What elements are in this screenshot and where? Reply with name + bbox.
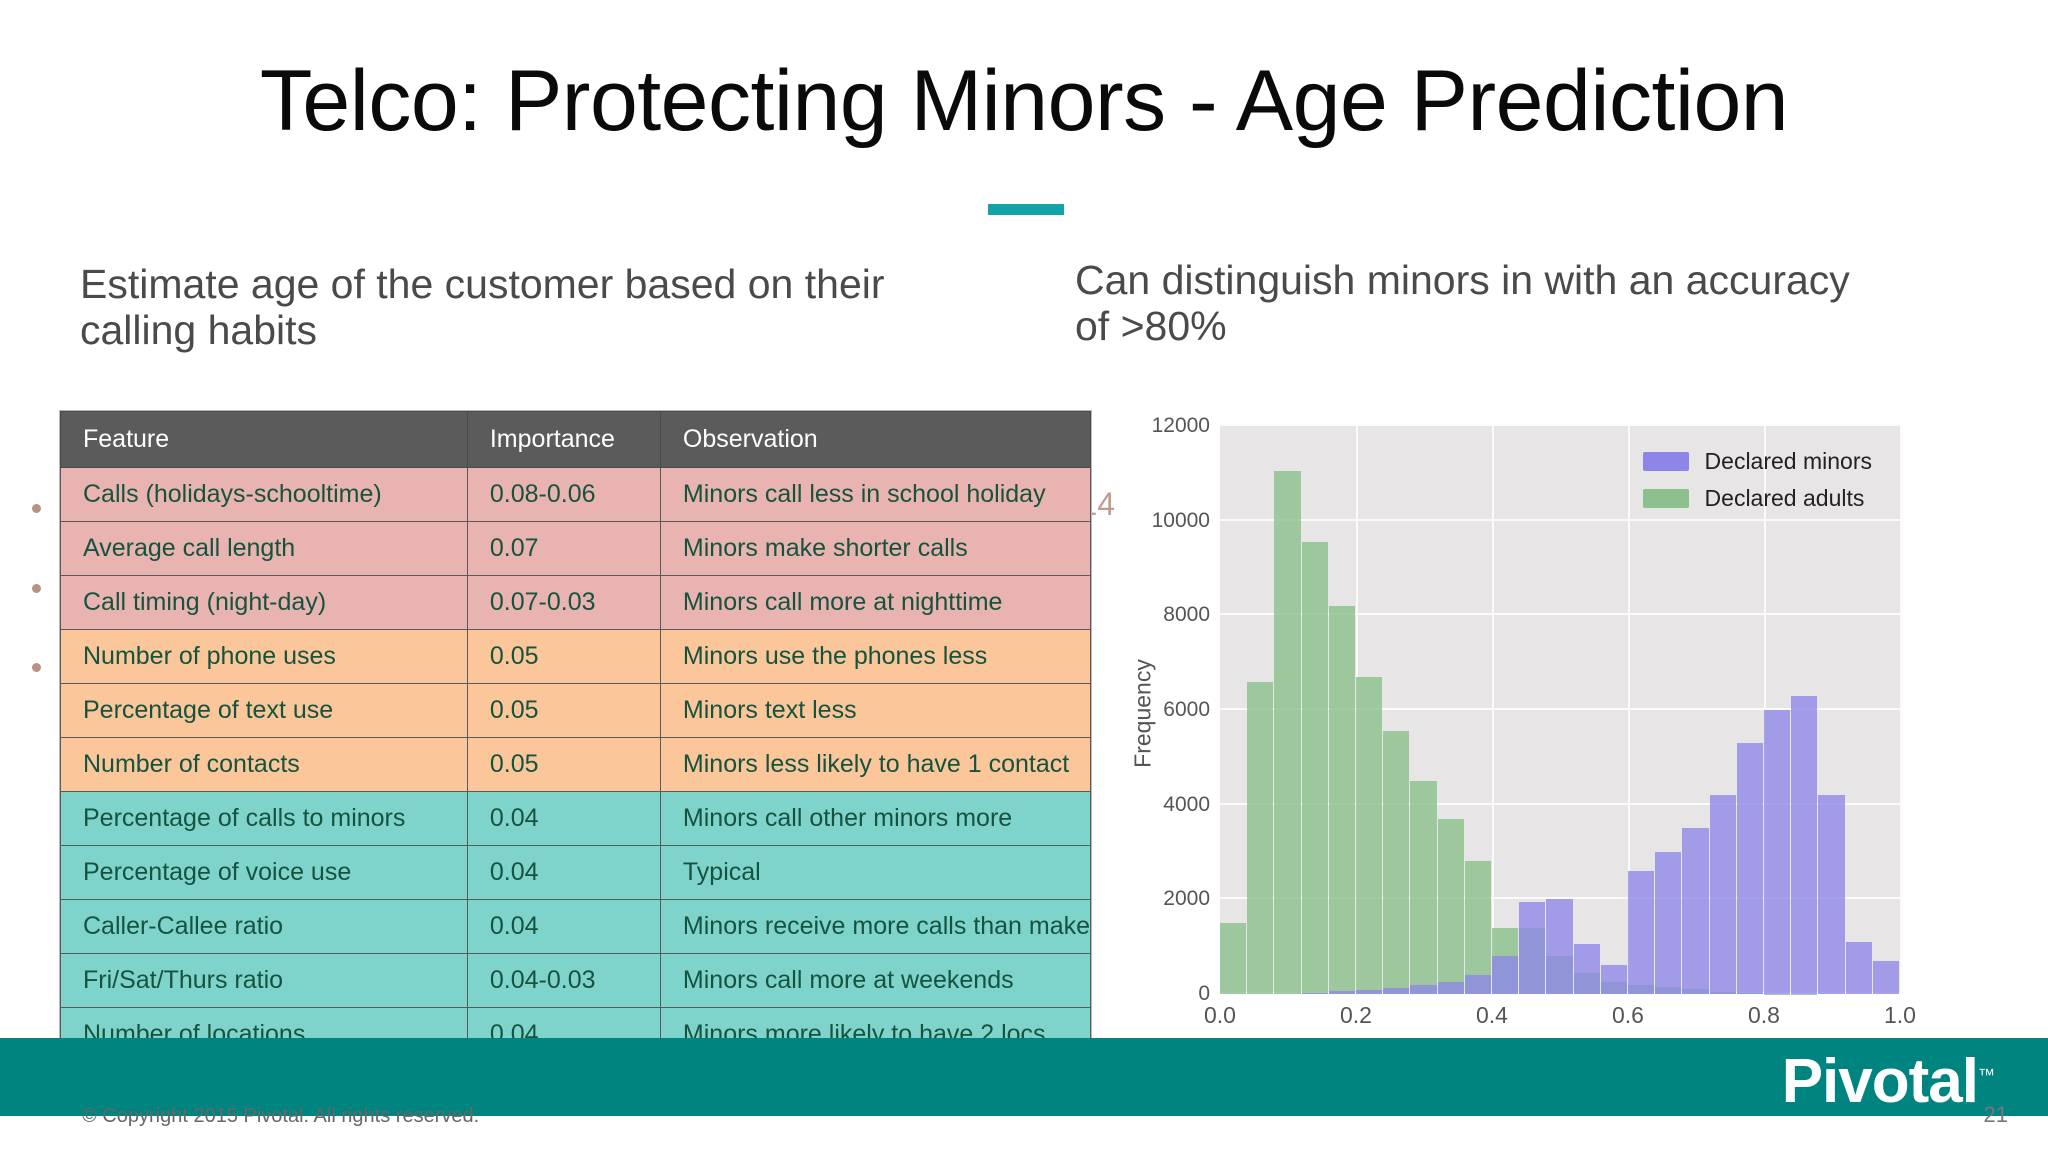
y-tick-label: 12000: [1115, 414, 1210, 438]
histogram-bar: [1791, 696, 1817, 994]
legend-item-adults: Declared adults: [1643, 485, 1872, 512]
chart-legend: Declared minors Declared adults: [1633, 440, 1886, 530]
histogram-bar: [1846, 942, 1872, 994]
lead-text-right: Can distinguish minors in with an accura…: [1075, 258, 1875, 350]
table-cell-feature: Percentage of text use: [61, 684, 468, 738]
table-cell-importance: 0.05: [467, 630, 660, 684]
score-histogram-chart: Frequency Declared minors Declared adult…: [1115, 400, 1935, 1020]
x-tick-label: 0.4: [1447, 1002, 1537, 1029]
histogram-bar: [1302, 993, 1328, 994]
table-cell-importance: 0.05: [467, 684, 660, 738]
page-title: Telco: Protecting Minors - Age Predictio…: [0, 58, 2048, 144]
table-cell-observation: Minors receive more calls than make: [660, 900, 1090, 954]
y-tick-label: 4000: [1115, 793, 1210, 817]
histogram-bar: [1410, 985, 1436, 994]
column-header-feature: Feature: [61, 412, 468, 468]
histogram-bar: [1438, 819, 1464, 994]
gridline: [1492, 426, 1494, 994]
histogram-bar: [1574, 944, 1600, 994]
table-cell-importance: 0.07: [467, 522, 660, 576]
histogram-bar: [1220, 923, 1246, 994]
histogram-bar: [1873, 961, 1899, 994]
table-cell-feature: Fri/Sat/Thurs ratio: [61, 954, 468, 1008]
histogram-bar: [1546, 899, 1572, 994]
table-row: Number of phone uses0.05Minors use the p…: [61, 630, 1091, 684]
table-cell-feature: Caller-Callee ratio: [61, 900, 468, 954]
table-row: Fri/Sat/Thurs ratio0.04-0.03Minors call …: [61, 954, 1091, 1008]
lead-text-left: Estimate age of the customer based on th…: [80, 262, 960, 354]
histogram-bar: [1628, 871, 1654, 994]
histogram-bar: [1383, 988, 1409, 994]
table-cell-observation: Minors use the phones less: [660, 630, 1090, 684]
brand-name: Pivotal: [1782, 1047, 1978, 1116]
title-accent-bar: [988, 204, 1064, 215]
gridline: [1900, 426, 1902, 994]
table-cell-observation: Typical: [660, 846, 1090, 900]
histogram-bar: [1383, 731, 1409, 994]
table-cell-feature: Calls (holidays-schooltime): [61, 468, 468, 522]
table-cell-importance: 0.04: [467, 792, 660, 846]
table-row: Caller-Callee ratio0.04Minors receive mo…: [61, 900, 1091, 954]
table-cell-importance: 0.04-0.03: [467, 954, 660, 1008]
table-row: Number of contacts0.05Minors less likely…: [61, 738, 1091, 792]
table-cell-importance: 0.08-0.06: [467, 468, 660, 522]
legend-label-minors: Declared minors: [1705, 448, 1872, 475]
table-cell-feature: Number of contacts: [61, 738, 468, 792]
table-cell-observation: Minors call more at nighttime: [660, 576, 1090, 630]
page-number: 21: [1984, 1102, 2008, 1128]
copyright-text: © Copyright 2015 Pivotal. All rights res…: [82, 1105, 479, 1128]
histogram-bar: [1247, 682, 1273, 994]
table-cell-importance: 0.07-0.03: [467, 576, 660, 630]
histogram-bar: [1655, 852, 1681, 994]
histogram-bar: [1710, 795, 1736, 994]
histogram-bar: [1356, 677, 1382, 994]
histogram-bar: [1519, 902, 1545, 994]
table-cell-observation: Minors make shorter calls: [660, 522, 1090, 576]
histogram-bar: [1274, 471, 1300, 994]
table-row: Average call length0.07Minors make short…: [61, 522, 1091, 576]
table-row: Calls (holidays-schooltime)0.08-0.06Mino…: [61, 468, 1091, 522]
table-body: Calls (holidays-schooltime)0.08-0.06Mino…: [61, 468, 1091, 1062]
x-tick-label: 0.6: [1583, 1002, 1673, 1029]
table-cell-observation: Minors call other minors more: [660, 792, 1090, 846]
table-row: Percentage of text use0.05Minors text le…: [61, 684, 1091, 738]
table-cell-observation: Minors less likely to have 1 contact: [660, 738, 1090, 792]
gridline: [1220, 424, 1900, 426]
histogram-bar: [1329, 991, 1355, 994]
table-row: Percentage of calls to minors0.04Minors …: [61, 792, 1091, 846]
y-tick-label: 6000: [1115, 698, 1210, 722]
histogram-bar: [1492, 956, 1518, 994]
column-header-importance: Importance: [467, 412, 660, 468]
feature-importance-table: Feature Importance Observation Calls (ho…: [60, 411, 1091, 1062]
histogram-bar: [1329, 606, 1355, 994]
table-cell-importance: 0.05: [467, 738, 660, 792]
table-cell-importance: 0.04: [467, 900, 660, 954]
table-row: Percentage of voice use0.04Typical: [61, 846, 1091, 900]
table-cell-observation: Minors call more at weekends: [660, 954, 1090, 1008]
histogram-bar: [1601, 965, 1627, 994]
histogram-bar: [1356, 990, 1382, 994]
x-tick-label: 1.0: [1855, 1002, 1945, 1029]
histogram-bar: [1682, 828, 1708, 994]
legend-item-minors: Declared minors: [1643, 448, 1872, 475]
table-header: Feature Importance Observation: [61, 412, 1091, 468]
column-header-observation: Observation: [660, 412, 1090, 468]
histogram-bar: [1410, 781, 1436, 994]
y-tick-label: 8000: [1115, 603, 1210, 627]
histogram-bar: [1465, 975, 1491, 994]
histogram-bar: [1818, 795, 1844, 994]
legend-swatch-adults: [1643, 489, 1689, 508]
legend-label-adults: Declared adults: [1705, 485, 1865, 512]
pivotal-logo: Pivotal™: [1782, 1046, 1994, 1117]
histogram-bar: [1764, 710, 1790, 994]
table-cell-feature: Percentage of voice use: [61, 846, 468, 900]
table-cell-observation: Minors text less: [660, 684, 1090, 738]
table-cell-feature: Number of phone uses: [61, 630, 468, 684]
y-tick-label: 2000: [1115, 887, 1210, 911]
table-cell-feature: Percentage of calls to minors: [61, 792, 468, 846]
table-cell-feature: Call timing (night-day): [61, 576, 468, 630]
chart-plot-area: Declared minors Declared adults: [1220, 426, 1900, 994]
y-tick-label: 10000: [1115, 509, 1210, 533]
x-tick-label: 0.0: [1175, 1002, 1265, 1029]
trademark-symbol: ™: [1978, 1065, 1994, 1084]
x-tick-label: 0.2: [1311, 1002, 1401, 1029]
table-row: Call timing (night-day)0.07-0.03Minors c…: [61, 576, 1091, 630]
legend-swatch-minors: [1643, 452, 1689, 471]
table-cell-importance: 0.04: [467, 846, 660, 900]
histogram-bar: [1737, 743, 1763, 994]
x-tick-label: 0.8: [1719, 1002, 1809, 1029]
table-header-row: Feature Importance Observation: [61, 412, 1091, 468]
histogram-bar: [1438, 982, 1464, 994]
table-cell-observation: Minors call less in school holiday: [660, 468, 1090, 522]
table-cell-feature: Average call length: [61, 522, 468, 576]
histogram-bar: [1302, 542, 1328, 994]
